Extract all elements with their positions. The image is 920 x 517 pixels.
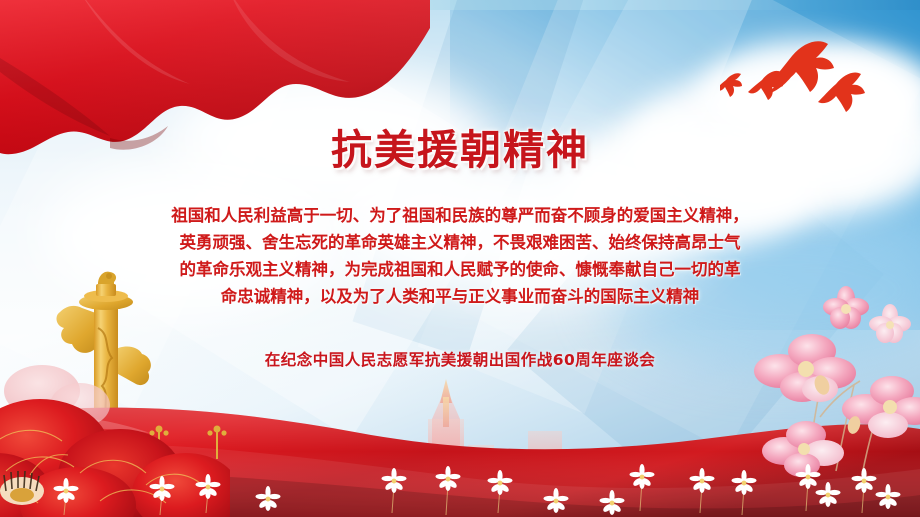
white-daisies	[0, 427, 920, 517]
body-paragraph: 祖国和人民利益高于一切、为了祖国和民族的尊严而奋不顾身的爱国主义精神， 英勇顽强…	[140, 202, 780, 310]
body-line: 的革命乐观主义精神，为完成祖国和人民赋予的使命、慷慨奉献自己一切的革	[140, 256, 780, 283]
body-line: 命忠诚精神，以及为了人类和平与正义事业而奋斗的国际主义精神	[140, 283, 780, 310]
body-line: 英勇顽强、舍生忘死的革命英雄主义精神，不畏艰难困苦、始终保持高昂士气	[140, 229, 780, 256]
body-line: 祖国和人民利益高于一切、为了祖国和民族的尊严而奋不顾身的爱国主义精神，	[140, 202, 780, 229]
presentation-slide: 抗美援朝精神 祖国和人民利益高于一切、为了祖国和民族的尊严而奋不顾身的爱国主义精…	[0, 0, 920, 517]
page-title: 抗美援朝精神	[0, 126, 920, 174]
flying-doves-icon	[720, 18, 920, 133]
